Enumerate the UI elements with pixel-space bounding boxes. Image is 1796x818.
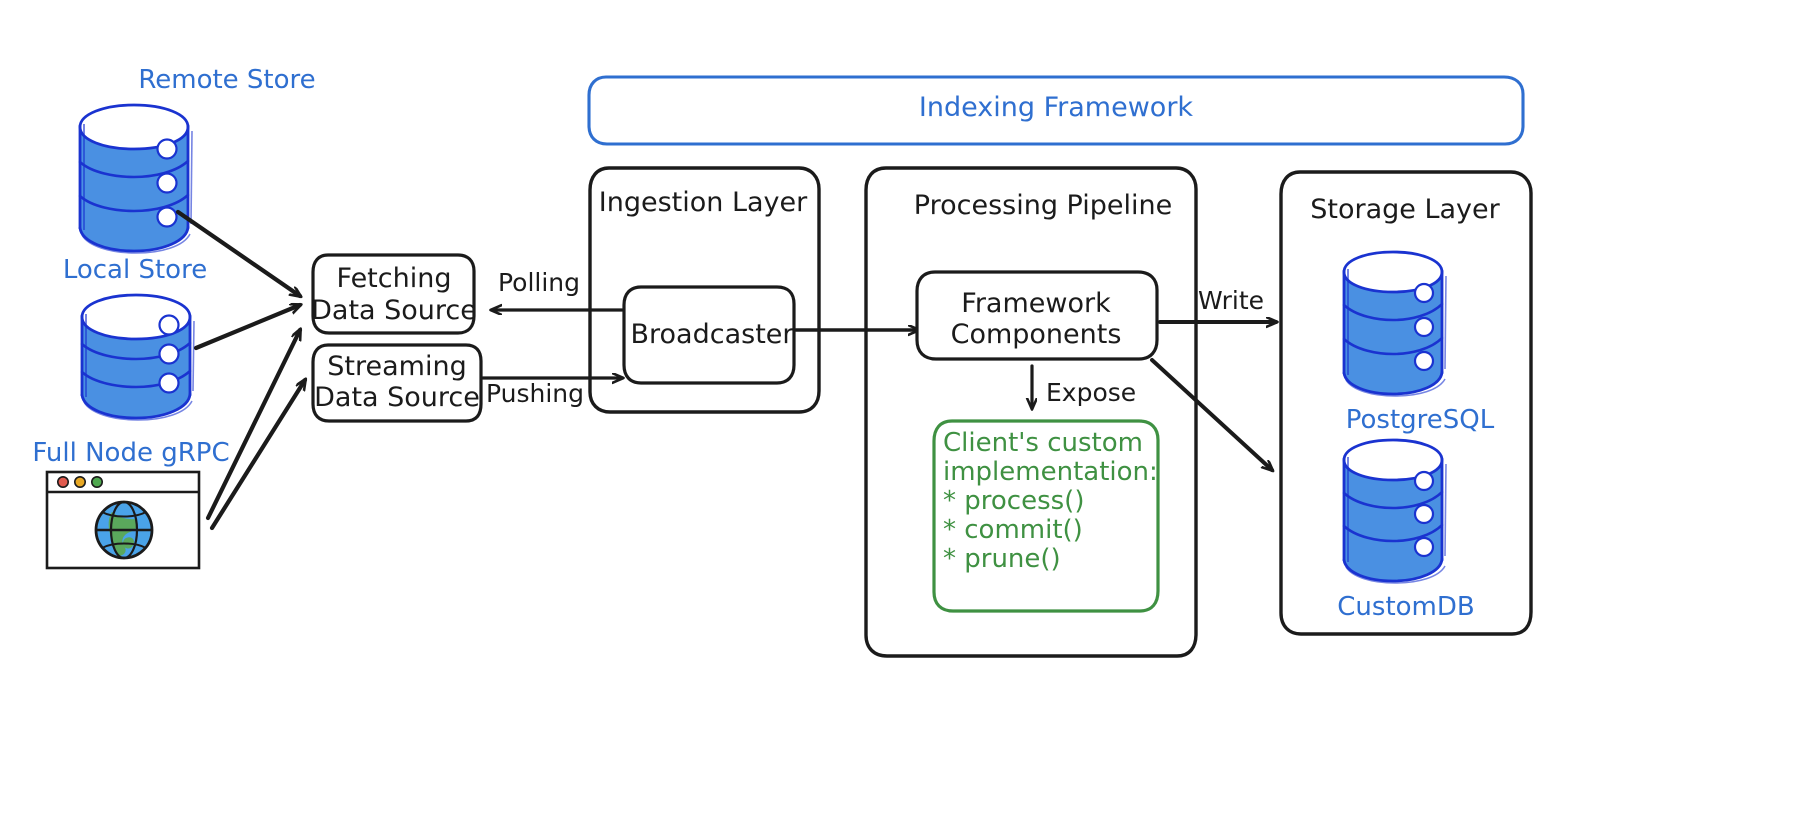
broadcaster-box[interactable] bbox=[624, 287, 794, 383]
customdb-icon bbox=[1344, 440, 1446, 583]
remote-store-icon bbox=[80, 105, 192, 253]
arrow-grpc-to-fetching bbox=[208, 330, 300, 518]
fetching-data-source-box[interactable] bbox=[313, 255, 474, 333]
streaming-data-source-box[interactable] bbox=[313, 345, 481, 421]
diagram-canvas: Indexing Framework Remote Store Local St… bbox=[0, 0, 1796, 818]
framework-components-box[interactable] bbox=[917, 272, 1157, 359]
diagram-svg bbox=[0, 0, 1796, 818]
arrow-grpc-to-streaming bbox=[212, 380, 305, 528]
indexing-framework-banner bbox=[589, 77, 1523, 144]
local-store-icon bbox=[82, 295, 194, 420]
postgresql-icon bbox=[1344, 252, 1446, 396]
browser-globe-icon bbox=[47, 472, 199, 568]
client-custom-implementation-box bbox=[934, 421, 1158, 611]
arrow-local-to-fetching bbox=[196, 305, 300, 348]
arrow-remote-to-fetching bbox=[178, 212, 300, 296]
arrow-framework-to-customdb bbox=[1152, 360, 1272, 470]
